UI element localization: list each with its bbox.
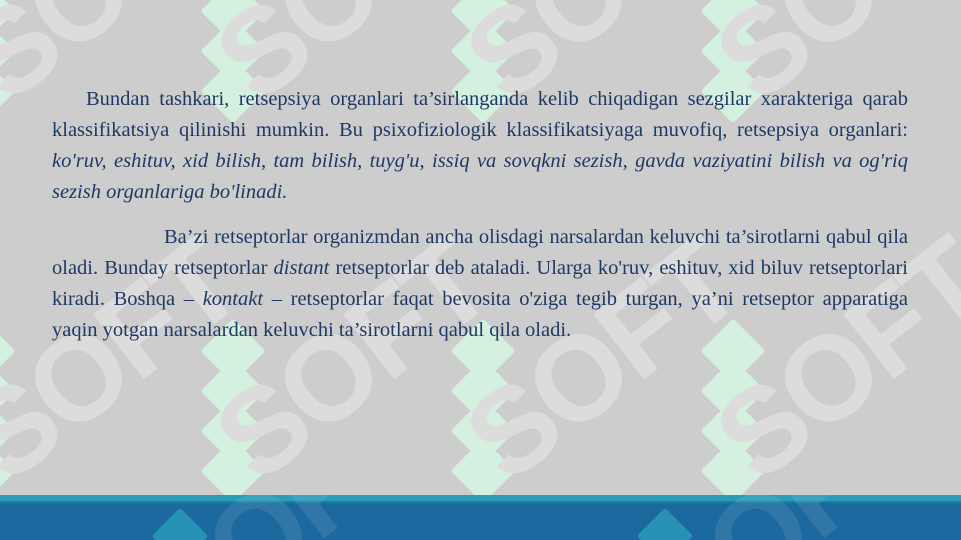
footer-background: SOFT SOFT	[0, 503, 961, 540]
paragraph-2-emphasis-kontakt: kontakt	[203, 288, 263, 310]
slide-canvas: SOFT SOFT SOFT SOFT SOFT SOFT SOFT SOF	[0, 0, 961, 540]
paragraph-1-emphasis: ko'ruv, eshituv, xid bilish, tam bilish,…	[52, 150, 908, 203]
stacked-diamond-logo-icon	[198, 328, 268, 498]
footer-bar: SOFT SOFT	[0, 495, 961, 540]
paragraph-1-text: Bundan tashkari, retsepsiya organlari ta…	[52, 88, 908, 141]
stacked-diamond-logo-icon	[698, 328, 768, 498]
paragraph-2: Ba’zi retseptorlar organizmdan ancha oli…	[52, 222, 908, 346]
stacked-diamond-logo-icon	[448, 328, 518, 498]
stacked-diamond-logo-icon	[0, 328, 18, 498]
slide-body: Bundan tashkari, retsepsiya organlari ta…	[52, 84, 908, 346]
paragraph-2-emphasis-distant: distant	[274, 257, 330, 279]
stacked-diamond-logo-icon	[0, 0, 18, 118]
paragraph-1: Bundan tashkari, retsepsiya organlari ta…	[52, 84, 908, 208]
